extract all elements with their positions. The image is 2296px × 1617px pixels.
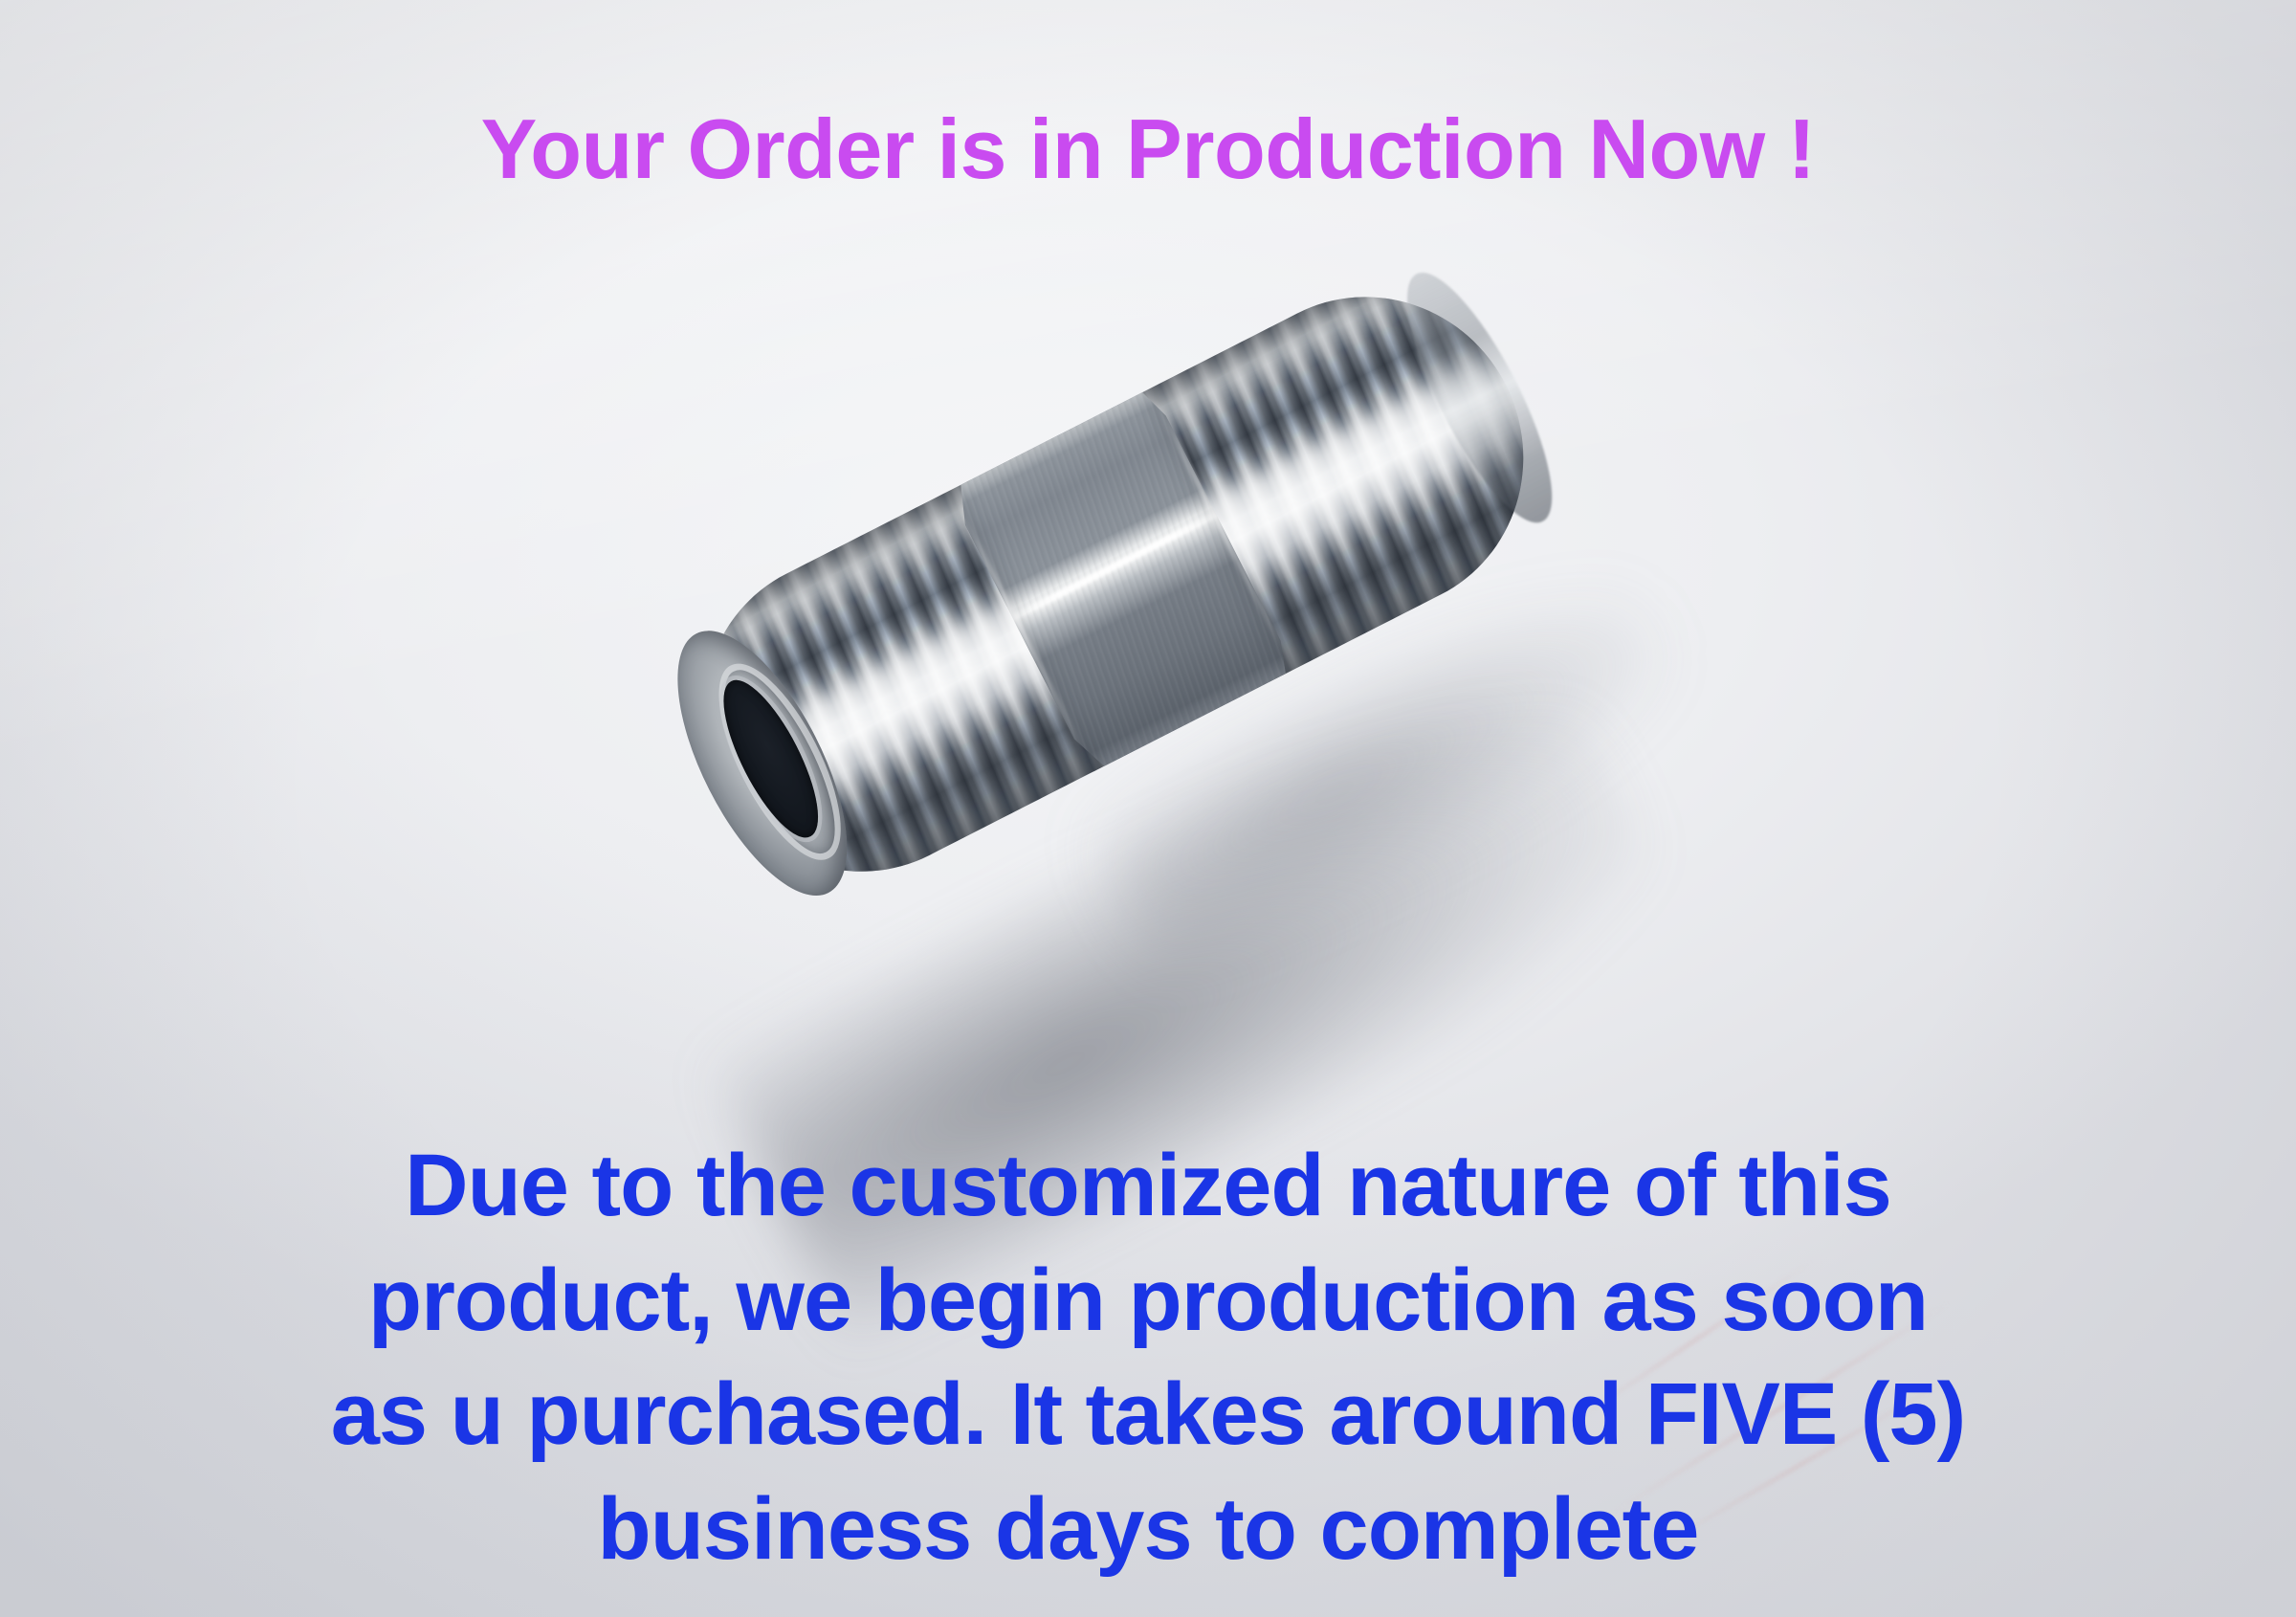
notice-line: product, we begin production as soon — [86, 1244, 2210, 1359]
promo-image: Your Order is in Production Now ! Due to… — [0, 0, 2296, 1617]
page-title: Your Order is in Production Now ! — [0, 107, 2296, 191]
notice-line: business days to complete — [86, 1473, 2210, 1587]
notice-line: as u purchased. It takes around FIVE (5) — [86, 1358, 2210, 1473]
production-notice: Due to the customized nature of this pro… — [86, 1129, 2210, 1586]
notice-line: Due to the customized nature of this — [86, 1129, 2210, 1244]
